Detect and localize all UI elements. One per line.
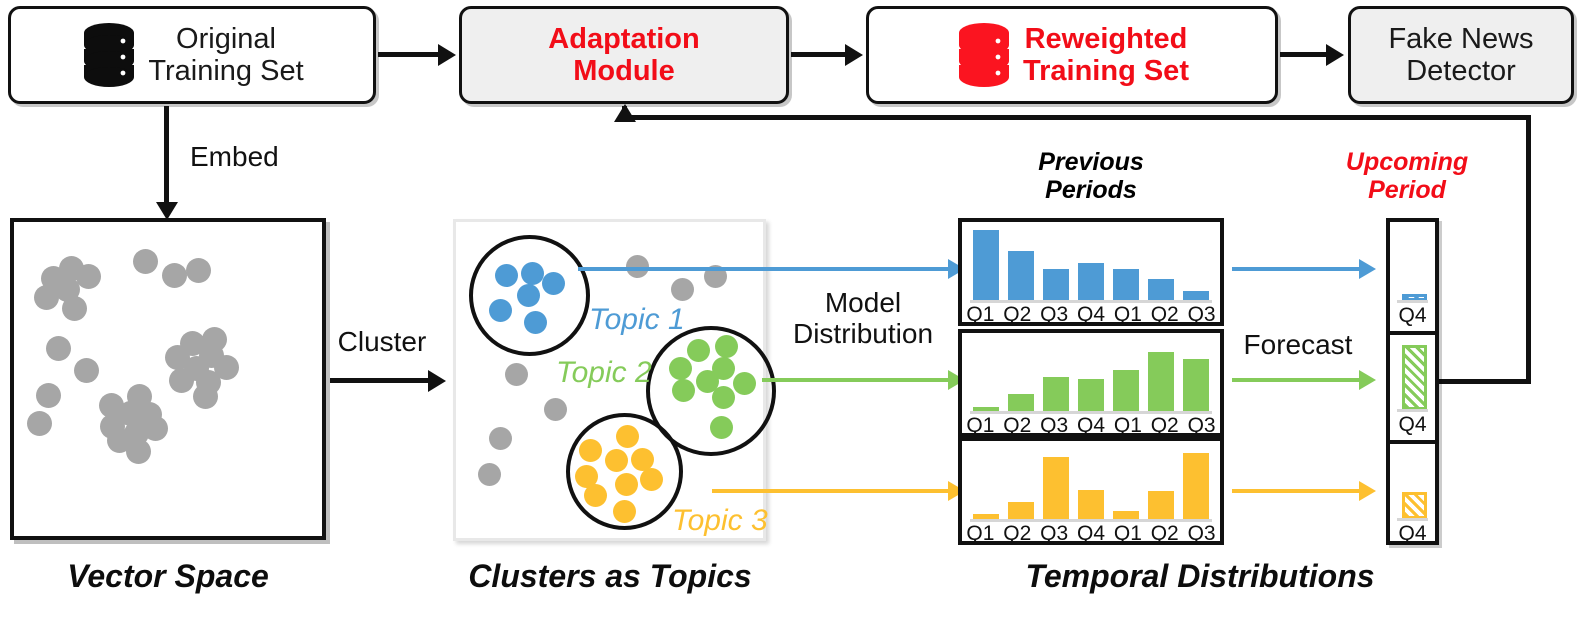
topic-1-point	[517, 284, 540, 307]
forecast-tick-label: Q4	[1390, 522, 1435, 546]
topic-3-point	[613, 500, 636, 523]
original-training-set-node: Original Training Set	[8, 6, 376, 104]
vector-space-panel	[10, 218, 326, 540]
topic-1-label: Topic 1	[589, 303, 685, 337]
bar	[1008, 394, 1034, 412]
arrowhead-icon	[614, 104, 636, 122]
bar	[1113, 269, 1139, 300]
forecast-bar-topic-2	[1402, 345, 1427, 410]
bar	[1183, 291, 1209, 300]
database-icon	[955, 22, 1013, 88]
clusters-caption: Clusters as Topics	[430, 558, 790, 595]
data-point	[76, 264, 101, 289]
chart-topic-2: Q1 Q2 Q3 Q4 Q1 Q2 Q3	[958, 329, 1224, 437]
bar	[1043, 377, 1069, 411]
bar	[1148, 279, 1174, 300]
arrowhead-icon	[1359, 259, 1376, 279]
data-point	[46, 336, 71, 361]
forecast-flow-line-topic-3	[1232, 489, 1362, 493]
tick-label: Q3	[1036, 522, 1073, 546]
topic-2-point	[710, 416, 733, 439]
tick-label: Q2	[999, 414, 1036, 438]
arrowhead-icon	[845, 44, 863, 66]
topic-3-label: Topic 3	[672, 504, 768, 538]
topic-2-flow-line	[762, 378, 951, 382]
topic-3-point	[615, 473, 638, 496]
original-training-set-label: Original Training Set	[148, 23, 303, 88]
tick-label: Q4	[1073, 522, 1110, 546]
bar	[1183, 453, 1209, 520]
previous-periods-header: Previous Periods	[958, 148, 1224, 204]
data-point	[169, 368, 194, 393]
cluster-label: Cluster	[326, 327, 438, 358]
forecast-cell-topic-3: Q4	[1390, 440, 1435, 549]
data-point	[143, 416, 168, 441]
bar	[1113, 370, 1139, 411]
bar	[1078, 490, 1104, 519]
topic-1-point	[524, 311, 547, 334]
adaptation-module-label: Adaptation Module	[548, 23, 699, 88]
embed-label: Embed	[190, 142, 360, 173]
bar	[1113, 511, 1139, 519]
data-point	[133, 249, 158, 274]
arrow-adaptation-to-reweighted	[791, 52, 847, 57]
vector-space-caption: Vector Space	[10, 558, 326, 595]
topic-2-point	[669, 357, 692, 380]
topic-3-point	[616, 425, 639, 448]
forecast-axis-line	[1397, 409, 1428, 412]
forecast-bar-topic-3	[1402, 492, 1427, 519]
forecast-label: Forecast	[1232, 330, 1364, 361]
arrowhead-icon	[1359, 481, 1376, 501]
topic-1-point	[495, 264, 518, 287]
tick-label: Q1	[1109, 303, 1146, 327]
data-point	[489, 427, 512, 450]
chart-plot-area	[968, 230, 1214, 300]
temporal-distributions-caption: Temporal Distributions	[930, 558, 1470, 595]
data-point	[196, 370, 221, 395]
bar	[1078, 379, 1104, 411]
bar	[1148, 352, 1174, 412]
topic-3-flow-line	[712, 489, 951, 493]
topic-2-point	[672, 379, 695, 402]
fake-news-detector-label: Fake News Detector	[1388, 23, 1533, 88]
tick-label: Q3	[1036, 414, 1073, 438]
feedback-loop-bottom-segment	[1424, 379, 1531, 384]
topic-2-point	[733, 372, 756, 395]
forecast-tick-label: Q4	[1390, 413, 1435, 437]
data-point	[74, 358, 99, 383]
arrowhead-icon	[1326, 44, 1344, 66]
bar	[1008, 251, 1034, 300]
topic-3-point	[605, 449, 628, 472]
topic-3-point	[579, 439, 602, 462]
fake-news-detector-node: Fake News Detector	[1348, 6, 1574, 104]
bar	[1043, 269, 1069, 301]
tick-label: Q1	[962, 522, 999, 546]
tick-label: Q1	[1109, 522, 1146, 546]
data-point	[34, 285, 59, 310]
tick-label: Q2	[1146, 522, 1183, 546]
tick-label: Q2	[1146, 303, 1183, 327]
reweighted-training-set-label: Reweighted Training Set	[1023, 23, 1189, 88]
bar	[1183, 359, 1209, 412]
arrowhead-icon	[428, 370, 446, 392]
tick-label: Q3	[1036, 303, 1073, 327]
arrowhead-icon	[438, 44, 456, 66]
forecast-flow-line-topic-2	[1232, 378, 1362, 382]
tick-label: Q1	[1109, 414, 1146, 438]
chart-tick-labels: Q1 Q2 Q3 Q4 Q1 Q2 Q3	[962, 522, 1220, 546]
topic-2-label: Topic 2	[556, 356, 652, 390]
topic-3-point	[584, 484, 607, 507]
topic-3-point	[640, 468, 663, 491]
chart-tick-labels: Q1 Q2 Q3 Q4 Q1 Q2 Q3	[962, 414, 1220, 438]
chart-topic-3: Q1 Q2 Q3 Q4 Q1 Q2 Q3	[958, 437, 1224, 545]
forecast-axis-line	[1397, 518, 1428, 521]
tick-label: Q2	[999, 303, 1036, 327]
forecast-tick-label: Q4	[1390, 304, 1435, 328]
feedback-loop-top-segment	[622, 115, 1531, 120]
chart-plot-area	[968, 449, 1214, 519]
upcoming-period-header: Upcoming Period	[1322, 148, 1492, 204]
chart-tick-labels: Q1 Q2 Q3 Q4 Q1 Q2 Q3	[962, 303, 1220, 327]
data-point	[505, 363, 528, 386]
tick-label: Q4	[1073, 414, 1110, 438]
data-point	[162, 263, 187, 288]
arrow-reweighted-to-detector	[1280, 52, 1328, 57]
embed-arrow-shaft	[164, 106, 169, 208]
tick-label: Q2	[1146, 414, 1183, 438]
tick-label: Q2	[999, 522, 1036, 546]
data-point	[671, 278, 694, 301]
topic-1-flow-line	[578, 267, 951, 271]
database-icon	[80, 22, 138, 88]
chart-plot-area	[968, 341, 1214, 411]
tick-label: Q1	[962, 303, 999, 327]
bar	[973, 230, 999, 300]
forecast-flow-line-topic-1	[1232, 267, 1362, 271]
adaptation-module-node: Adaptation Module	[459, 6, 789, 104]
diagram-canvas: Original Training Set Adaptation Module	[0, 0, 1581, 620]
topic-1-point	[489, 299, 512, 322]
topic-2-point	[715, 335, 738, 358]
model-distribution-label: Model Distribution	[768, 288, 958, 350]
tick-label: Q4	[1073, 303, 1110, 327]
data-point	[27, 411, 52, 436]
cluster-arrow-shaft	[330, 378, 430, 383]
arrowhead-icon	[1359, 370, 1376, 390]
arrow-original-to-adaptation	[378, 52, 440, 57]
data-point	[126, 439, 151, 464]
feedback-loop-right-segment	[1526, 115, 1531, 383]
tick-label: Q3	[1183, 414, 1220, 438]
data-point	[478, 463, 501, 486]
data-point	[544, 398, 567, 421]
chart-topic-1: Q1 Q2 Q3 Q4 Q1 Q2 Q3	[958, 218, 1224, 326]
topic-2-point	[712, 386, 735, 409]
forecast-cell-topic-2: Q4	[1390, 331, 1435, 440]
bar	[1043, 457, 1069, 519]
reweighted-training-set-node: Reweighted Training Set	[866, 6, 1278, 104]
upcoming-period-column: Q4 Q4 Q4	[1386, 218, 1439, 545]
tick-label: Q3	[1183, 303, 1220, 327]
bar	[1148, 491, 1174, 519]
topic-2-point	[687, 339, 710, 362]
forecast-axis-line	[1397, 300, 1428, 303]
data-point	[36, 383, 61, 408]
data-point	[186, 258, 211, 283]
tick-label: Q1	[962, 414, 999, 438]
topic-1-point	[521, 262, 544, 285]
forecast-cell-topic-1: Q4	[1390, 222, 1435, 331]
bar	[1008, 502, 1034, 520]
data-point	[62, 296, 87, 321]
tick-label: Q3	[1183, 522, 1220, 546]
bar	[1078, 263, 1104, 300]
topic-1-point	[542, 272, 565, 295]
